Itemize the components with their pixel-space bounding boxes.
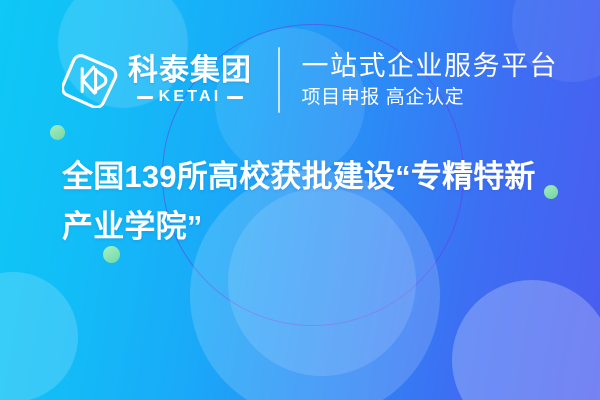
- brand-name-en-row: KETAI: [137, 89, 244, 105]
- decorative-circle-bottom-right: [452, 280, 600, 400]
- header-divider: [278, 47, 280, 113]
- ketai-kp-monogram-icon: [62, 52, 118, 108]
- brand-name-en: KETAI: [159, 89, 222, 105]
- wordmark-rule-left: [137, 96, 153, 99]
- brand-name-cn: 科泰集团: [128, 55, 252, 87]
- brand-logo[interactable]: 科泰集团 KETAI: [62, 52, 252, 108]
- headline-text: 全国139所高校获批建设“专精特新产业学院”: [62, 152, 562, 252]
- tagline-block: 一站式企业服务平台 项目申报 高企认定: [302, 51, 559, 108]
- decorative-circle-bottom-left: [0, 272, 78, 400]
- brand-wordmark: 科泰集团 KETAI: [128, 55, 252, 106]
- accent-dot-left: [50, 125, 65, 140]
- promo-banner: 科泰集团 KETAI 一站式企业服务平台 项目申报 高企认定 全国139所高校获…: [0, 0, 600, 400]
- tagline-primary: 一站式企业服务平台: [302, 51, 559, 81]
- wordmark-rule-right: [227, 96, 243, 99]
- banner-header: 科泰集团 KETAI 一站式企业服务平台 项目申报 高企认定: [62, 42, 558, 118]
- tagline-secondary: 项目申报 高企认定: [302, 87, 559, 109]
